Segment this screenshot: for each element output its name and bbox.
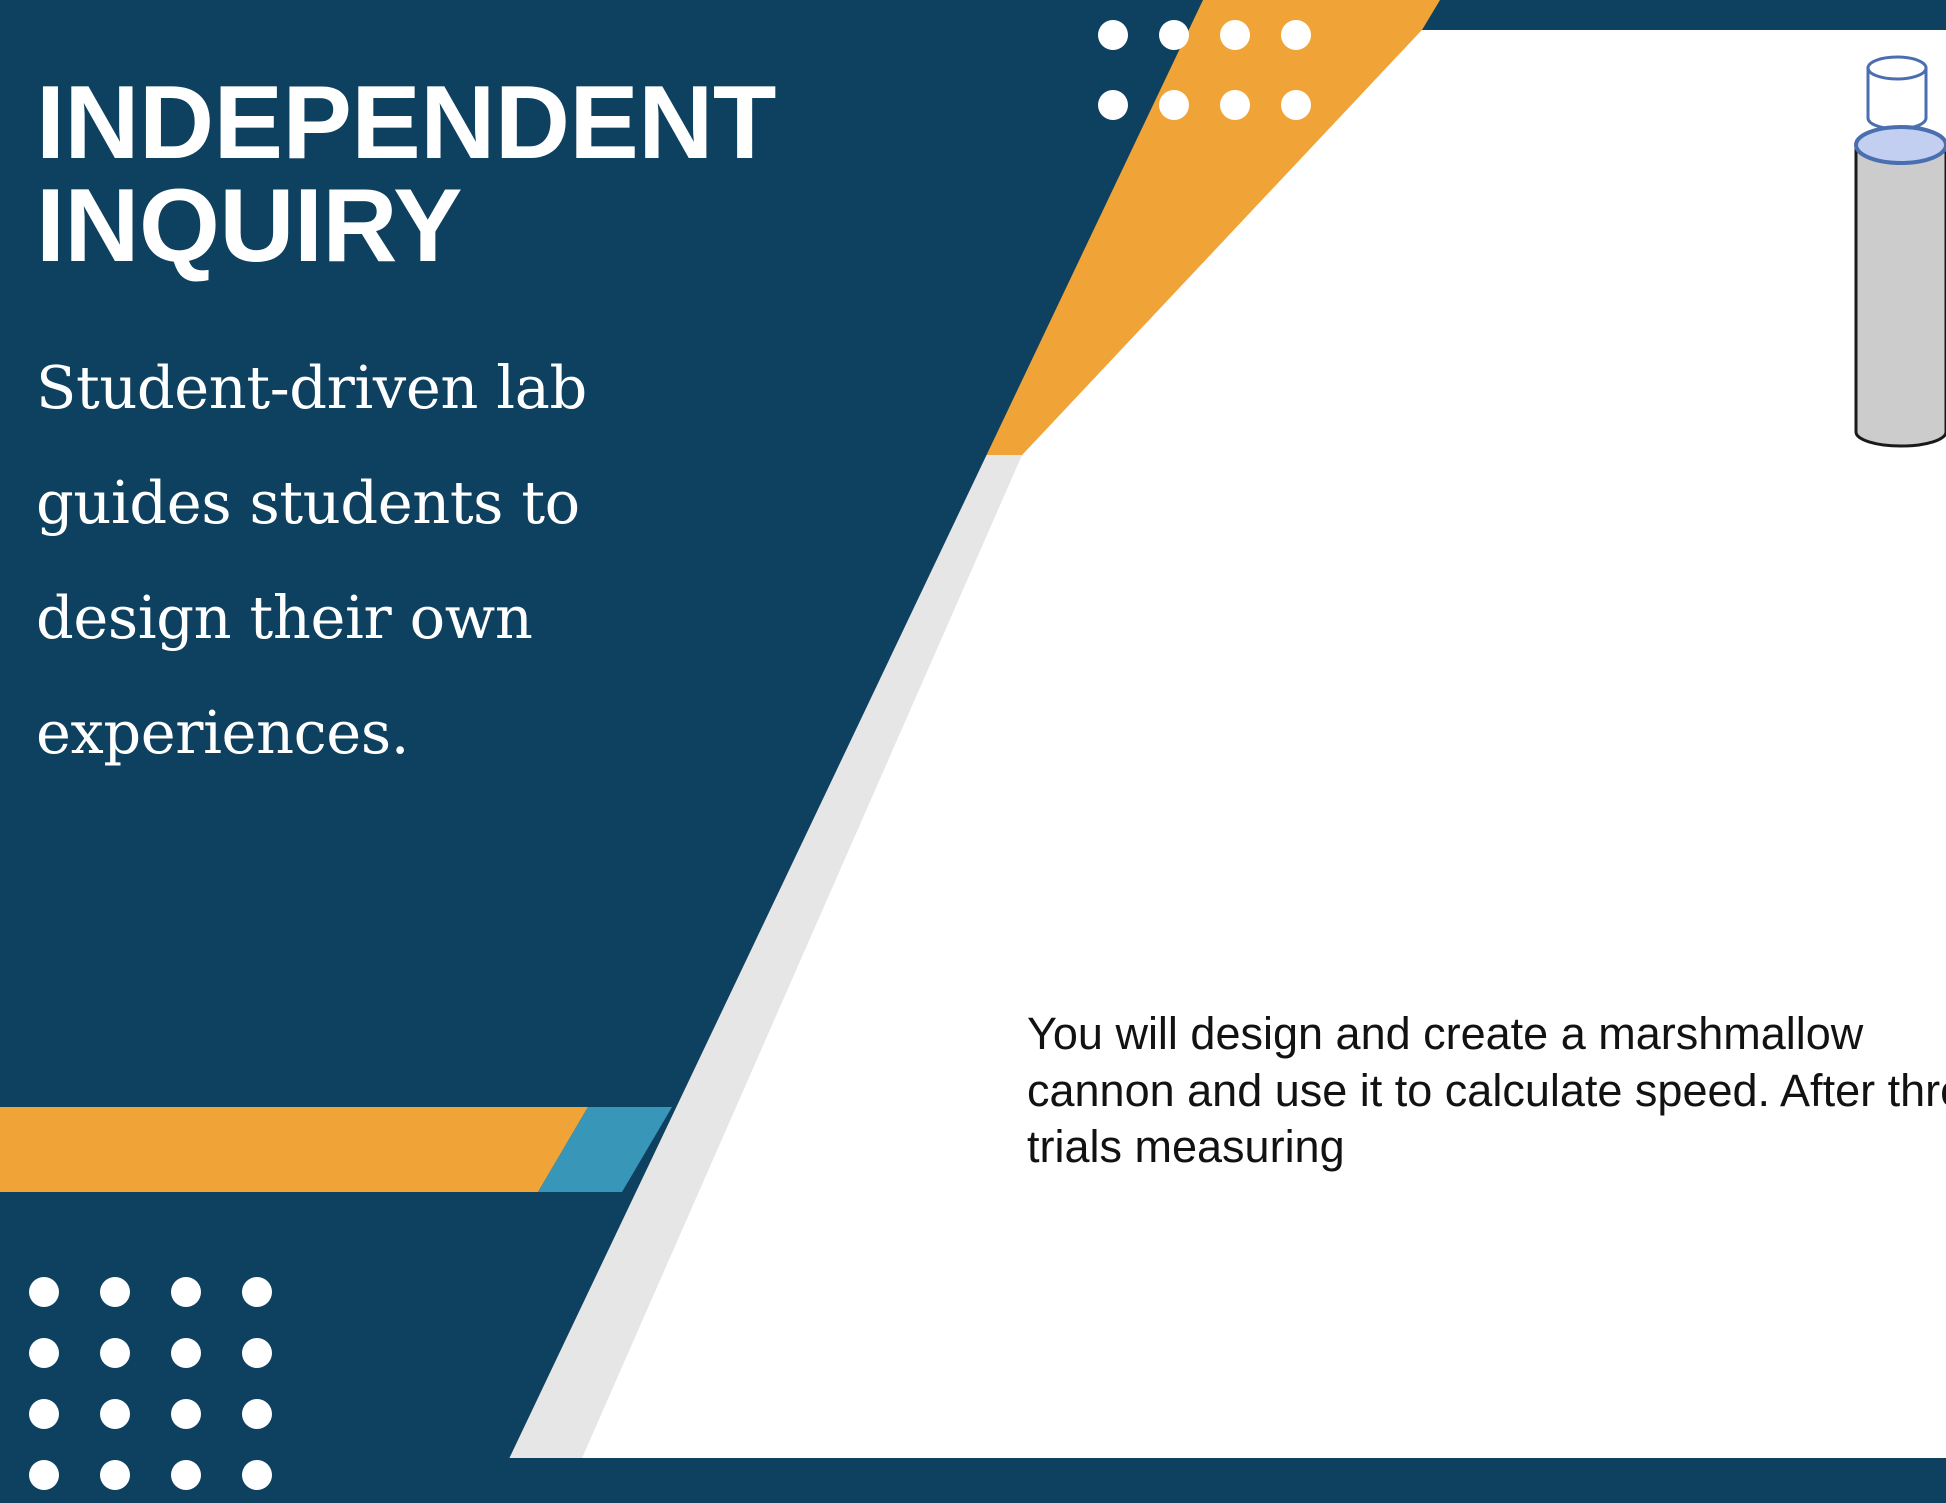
slide-canvas: INDEPENDENT INQUIRY Student-driven lab g… (0, 0, 1946, 1503)
cannon-barrel-cylinder-icon (1856, 127, 1946, 446)
slide-subtitle: Student-driven lab guides students to de… (36, 330, 766, 790)
page-title: INDEPENDENT INQUIRY (36, 72, 796, 278)
title-block: INDEPENDENT INQUIRY Student-driven lab g… (36, 72, 796, 790)
marshmallow-cylinder-icon (1868, 57, 1926, 129)
assignment-description-text: You will design and create a marshmallow… (1027, 1006, 1946, 1176)
accent-bar-orange (0, 1107, 588, 1192)
navy-bottom-strip-overlay (488, 1458, 1946, 1503)
navy-top-strip-overlay (1422, 0, 1946, 30)
